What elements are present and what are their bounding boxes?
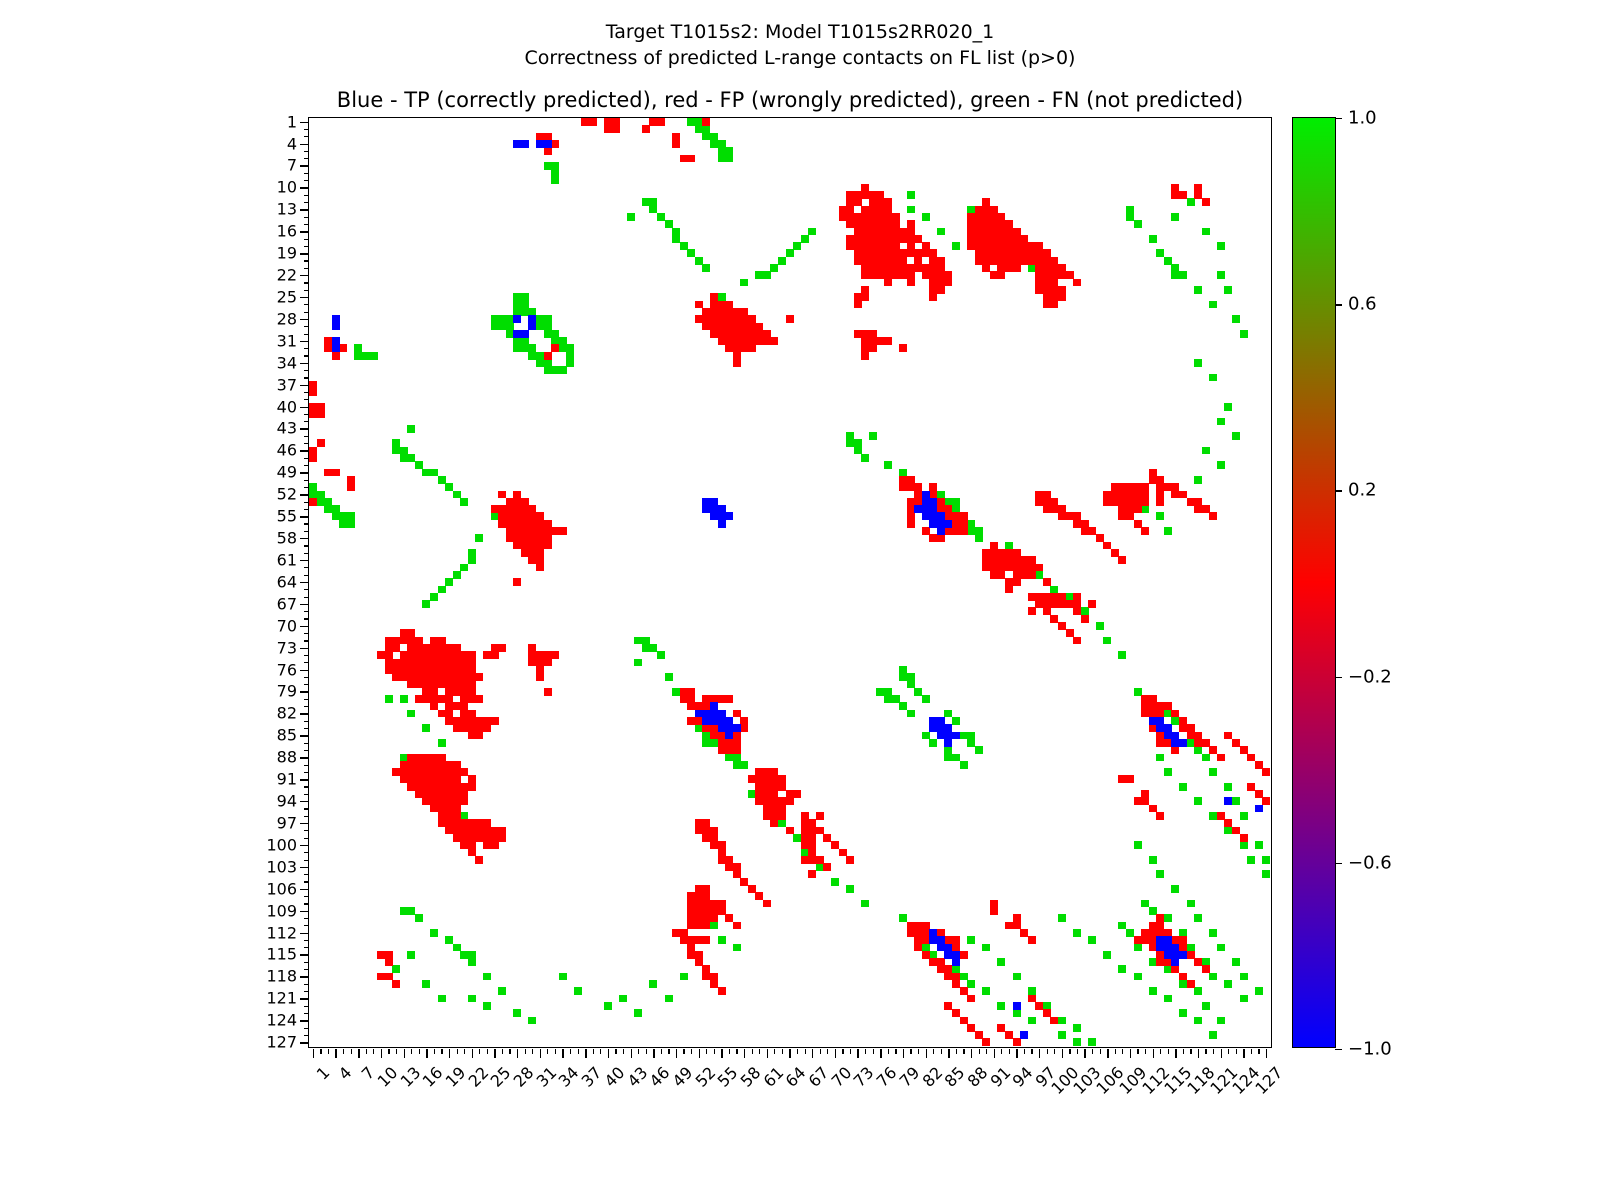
y-tick-major (300, 209, 309, 210)
x-tick-major (404, 1049, 405, 1058)
contact-cell-fp (687, 155, 695, 163)
contact-cell-fp (1187, 980, 1195, 988)
y-tick-minor (304, 962, 309, 963)
contact-cell-fp (536, 564, 544, 572)
y-axis-tick-label: 100 (266, 835, 297, 854)
x-tick-major (1039, 1049, 1040, 1058)
x-axis-tick-label: 7 (358, 1063, 379, 1084)
contact-cell-fp (498, 834, 506, 842)
contact-cell-fn (665, 995, 673, 1003)
contact-cell-fn (763, 271, 771, 279)
contact-cell-fn (1088, 936, 1096, 944)
contact-cell-fp (770, 337, 778, 345)
x-tick-major (472, 1049, 473, 1058)
contact-cell-fn (1209, 374, 1217, 382)
x-tick-minor (963, 1049, 964, 1054)
contact-cell-tp (937, 527, 945, 535)
x-tick-major (835, 1049, 836, 1058)
colorbar-tick-label: 1.0 (1348, 108, 1377, 129)
contact-cell-tp (944, 520, 952, 528)
y-axis-tick-label: 31 (277, 331, 297, 350)
contact-cell-fn (1202, 1002, 1210, 1010)
y-axis-tick-label: 46 (277, 441, 297, 460)
contact-cell-fn (1209, 768, 1217, 776)
contact-cell-fp (854, 301, 862, 309)
y-tick-minor (304, 589, 309, 590)
contact-cell-fn (952, 242, 960, 250)
y-tick-minor (304, 348, 309, 349)
y-axis-tick-label: 118 (266, 967, 297, 986)
x-tick-major (335, 1049, 336, 1058)
contact-cell-fp (309, 498, 317, 506)
x-tick-minor (1031, 1049, 1032, 1054)
contact-cell-tp (952, 732, 960, 740)
contact-cell-fn (718, 936, 726, 944)
y-axis-tick-label: 91 (277, 770, 297, 789)
y-axis-tick-label: 64 (277, 572, 297, 591)
y-tick-minor (304, 896, 309, 897)
contact-cell-fp (468, 783, 476, 791)
y-tick-major (300, 648, 309, 649)
contact-cell-fp (475, 695, 483, 703)
contact-cell-fn (1171, 213, 1179, 221)
contact-cell-fn (1224, 286, 1232, 294)
y-tick-minor (304, 414, 309, 415)
y-axis-tick-label: 103 (266, 857, 297, 876)
contact-cell-fp (907, 483, 915, 491)
contact-cell-fn (392, 965, 400, 973)
contact-cell-fp (960, 951, 968, 959)
colorbar-tick (1335, 490, 1342, 491)
contact-cell-fn (922, 695, 930, 703)
contact-cell-fn (422, 600, 430, 608)
contact-cell-fn (453, 571, 461, 579)
contact-cell-tp (922, 491, 930, 499)
contact-cell-fp (498, 644, 506, 652)
contact-cell-fp (1013, 1038, 1021, 1046)
contact-cell-fp (1217, 754, 1225, 762)
contact-cell-fn (1149, 235, 1157, 243)
contact-cell-tp (1013, 1002, 1021, 1010)
x-axis-tick-label: 127 (1251, 1063, 1286, 1098)
contact-cell-tp (952, 958, 960, 966)
x-tick-minor (956, 1049, 957, 1054)
x-tick-minor (1047, 1049, 1048, 1054)
x-tick-minor (419, 1049, 420, 1054)
contact-cell-fn (702, 264, 710, 272)
contact-cell-fp (1035, 564, 1043, 572)
contact-cell-fp (347, 483, 355, 491)
contact-cell-fn (407, 951, 415, 959)
y-axis-tick-label: 124 (266, 1011, 297, 1030)
y-tick-minor (304, 830, 309, 831)
contact-cell-fn (1134, 944, 1142, 952)
contact-cell-fp (823, 863, 831, 871)
contact-cell-fn (1103, 951, 1111, 959)
contact-cell-fn (755, 271, 763, 279)
contact-cell-fn (869, 432, 877, 440)
y-tick-major (300, 428, 309, 429)
y-tick-minor (304, 808, 309, 809)
contact-cell-fp (778, 812, 786, 820)
contact-cell-fn (445, 578, 453, 586)
contact-cell-fp (687, 695, 695, 703)
contact-cell-fn (1141, 505, 1149, 513)
x-tick-minor (434, 1049, 435, 1054)
y-tick-major (300, 779, 309, 780)
contact-cell-fp (816, 812, 824, 820)
y-tick-minor (304, 392, 309, 393)
y-tick-minor (304, 553, 309, 554)
y-tick-major (300, 713, 309, 714)
x-tick-minor (888, 1049, 889, 1054)
contact-cell-fn (559, 973, 567, 981)
contact-cell-fp (1156, 498, 1164, 506)
contact-cell-fn (778, 257, 786, 265)
contact-cell-fn (1058, 1031, 1066, 1039)
y-tick-major (300, 231, 309, 232)
contact-cell-fp (1202, 198, 1210, 206)
x-tick-major (313, 1049, 314, 1058)
contact-cell-fp (1141, 790, 1149, 798)
y-tick-major (300, 604, 309, 605)
y-tick-minor (304, 334, 309, 335)
y-tick-minor (304, 377, 309, 378)
contact-cell-fn (1134, 973, 1142, 981)
contact-cell-fn (407, 425, 415, 433)
contact-cell-fp (710, 914, 718, 922)
x-tick-minor (366, 1049, 367, 1054)
y-tick-minor (304, 969, 309, 970)
y-tick-minor (304, 545, 309, 546)
colorbar-tick (1335, 118, 1342, 119)
contact-cell-fp (544, 688, 552, 696)
contact-cell-fn (960, 761, 968, 769)
y-tick-major (300, 670, 309, 671)
x-tick-minor (979, 1049, 980, 1054)
y-tick-minor (304, 502, 309, 503)
x-tick-major (699, 1049, 700, 1058)
contact-cell-fn (1240, 995, 1248, 1003)
y-axis-tick-label: 52 (277, 485, 297, 504)
x-tick-minor (865, 1049, 866, 1054)
contact-cell-fn (422, 724, 430, 732)
contact-cell-fn (468, 556, 476, 564)
x-tick-major (585, 1049, 586, 1058)
contact-cell-fp (1028, 607, 1036, 615)
contact-cell-tp (944, 739, 952, 747)
contact-cell-fp (1081, 615, 1089, 623)
contact-cell-fn (861, 900, 869, 908)
contact-cell-fp (695, 301, 703, 309)
x-tick-minor (623, 1049, 624, 1054)
contact-cell-fn (861, 454, 869, 462)
y-tick-minor (304, 195, 309, 196)
contact-cell-fn (1224, 783, 1232, 791)
contact-cell-tp (544, 140, 552, 148)
contact-cell-fn (1209, 929, 1217, 937)
colorbar-tick-label: −0.6 (1348, 852, 1392, 873)
contact-cell-fn (1164, 914, 1172, 922)
y-tick-major (300, 954, 309, 955)
suptitle-line-1: Target T1015s2: Model T1015s2RR020_1 (606, 21, 995, 43)
x-tick-minor (1160, 1049, 1161, 1054)
y-tick-minor (304, 421, 309, 422)
contact-cell-fp (869, 344, 877, 352)
x-tick-minor (918, 1049, 919, 1054)
contact-cell-fp (1134, 505, 1142, 513)
contact-cell-fp (672, 140, 680, 148)
contact-cell-fn (725, 155, 733, 163)
contact-cell-fp (702, 922, 710, 930)
contact-cell-fp (944, 279, 952, 287)
contact-cell-fn (657, 651, 665, 659)
contact-cell-fp (642, 125, 650, 133)
contact-cell-fn (1209, 1031, 1217, 1039)
contact-cell-fp (733, 922, 741, 930)
contact-cell-tp (513, 330, 521, 338)
y-tick-major (300, 363, 309, 364)
y-tick-major (300, 801, 309, 802)
colorbar: −1.0−0.6−0.20.20.61.0 (1292, 117, 1336, 1048)
contact-cell-fp (937, 286, 945, 294)
contact-cell-fn (952, 717, 960, 725)
contact-cell-fp (884, 337, 892, 345)
contact-cell-fn (1058, 1017, 1066, 1025)
x-tick-minor (729, 1049, 730, 1054)
x-tick-minor (706, 1049, 707, 1054)
contact-cell-fp (1126, 775, 1134, 783)
contact-cell-fn (1179, 271, 1187, 279)
contact-cell-fp (460, 797, 468, 805)
y-tick-minor (304, 246, 309, 247)
contact-cell-fp (1005, 922, 1013, 930)
contact-cell-fp (733, 739, 741, 747)
x-tick-minor (1183, 1049, 1184, 1054)
y-axis-tick-label: 37 (277, 375, 297, 394)
contact-cell-fn (559, 366, 567, 374)
y-tick-major (300, 122, 309, 123)
x-axis-tick-label: 1 (313, 1063, 334, 1084)
contact-cell-fn (498, 987, 506, 995)
contact-cell-fp (990, 907, 998, 915)
x-tick-major (562, 1049, 563, 1058)
contact-cell-fn (634, 659, 642, 667)
contact-cell-fp (559, 527, 567, 535)
x-tick-minor (600, 1049, 601, 1054)
y-tick-minor (304, 1028, 309, 1029)
x-tick-minor (1168, 1049, 1169, 1054)
contact-cell-tp (718, 520, 726, 528)
x-tick-major (540, 1049, 541, 1058)
x-tick-minor (1228, 1049, 1229, 1054)
x-tick-major (1175, 1049, 1176, 1058)
y-tick-minor (304, 684, 309, 685)
x-tick-minor (910, 1049, 911, 1054)
y-tick-minor (304, 136, 309, 137)
contact-cell-fn (1156, 512, 1164, 520)
y-tick-minor (304, 326, 309, 327)
y-tick-minor (304, 618, 309, 619)
y-tick-minor (304, 655, 309, 656)
contact-cell-fn (1058, 914, 1066, 922)
contact-cell-fn (1255, 841, 1263, 849)
contact-cell-fp (1073, 279, 1081, 287)
contact-cell-tp (1164, 944, 1172, 952)
y-tick-minor (304, 370, 309, 371)
x-tick-minor (570, 1049, 571, 1054)
contact-cell-fp (1028, 936, 1036, 944)
colorbar-tick (1335, 304, 1342, 305)
x-tick-minor (373, 1049, 374, 1054)
x-tick-minor (396, 1049, 397, 1054)
x-tick-major (449, 1049, 450, 1058)
y-tick-major (300, 560, 309, 561)
contact-cell-fp (513, 578, 521, 586)
x-tick-minor (487, 1049, 488, 1054)
contact-cell-fn (460, 498, 468, 506)
contact-cell-tp (725, 512, 733, 520)
x-tick-major (767, 1049, 768, 1058)
y-tick-minor (304, 816, 309, 817)
y-tick-major (300, 976, 309, 977)
contact-cell-fn (907, 710, 915, 718)
y-tick-minor (304, 567, 309, 568)
x-tick-major (426, 1049, 427, 1058)
x-tick-major (358, 1049, 359, 1058)
contact-cell-fp (1013, 264, 1021, 272)
contact-cell-fp (907, 279, 915, 287)
contact-cell-fn (483, 1002, 491, 1010)
x-tick-minor (457, 1049, 458, 1054)
x-tick-minor (1145, 1049, 1146, 1054)
contact-cell-fn (370, 352, 378, 360)
contact-cell-fn (1209, 301, 1217, 309)
x-tick-minor (873, 1049, 874, 1054)
x-tick-minor (805, 1049, 806, 1054)
contact-cell-tp (695, 710, 703, 718)
contact-cell-fn (1194, 797, 1202, 805)
x-tick-major (926, 1049, 927, 1058)
x-tick-minor (547, 1049, 548, 1054)
contact-cell-fn (468, 549, 476, 557)
x-tick-minor (328, 1049, 329, 1054)
contact-cell-fp (937, 534, 945, 542)
x-tick-major (1243, 1049, 1244, 1058)
y-axis-tick-label: 97 (277, 813, 297, 832)
contact-cell-tp (521, 140, 529, 148)
y-tick-minor (304, 260, 309, 261)
x-tick-minor (1077, 1049, 1078, 1054)
contact-cell-fn (438, 739, 446, 747)
contact-cell-fn (513, 1009, 521, 1017)
contact-cell-fn (1028, 1017, 1036, 1025)
contact-cell-fn (634, 1009, 642, 1017)
axes-title-legend: Blue - TP (correctly predicted), red - F… (308, 88, 1272, 112)
contact-cell-fn (460, 564, 468, 572)
y-axis-tick-label: 16 (277, 222, 297, 241)
x-tick-minor (691, 1049, 692, 1054)
contact-cell-fp (846, 856, 854, 864)
y-tick-minor (304, 721, 309, 722)
y-tick-major (300, 297, 309, 298)
contact-cell-fn (1096, 622, 1104, 630)
contact-cell-fp (1088, 600, 1096, 608)
y-tick-minor (304, 202, 309, 203)
contact-cell-fn (1171, 885, 1179, 893)
y-tick-minor (304, 458, 309, 459)
y-axis-tick-label: 49 (277, 463, 297, 482)
x-tick-minor (1100, 1049, 1101, 1054)
contact-cell-fp (1202, 965, 1210, 973)
y-tick-minor (304, 984, 309, 985)
x-tick-minor (441, 1049, 442, 1054)
colorbar-gradient (1293, 118, 1335, 1047)
contact-cell-fp (952, 527, 960, 535)
contact-cell-fn (929, 739, 937, 747)
x-tick-minor (1213, 1049, 1214, 1054)
y-axis-tick-label: 1 (287, 112, 297, 131)
contact-cell-fp (733, 746, 741, 754)
x-tick-minor (593, 1049, 594, 1054)
contact-cell-fp (786, 797, 794, 805)
x-tick-minor (411, 1049, 412, 1054)
x-tick-minor (850, 1049, 851, 1054)
contact-cell-fn (1118, 965, 1126, 973)
contact-cell-fp (861, 293, 869, 301)
y-tick-minor (304, 918, 309, 919)
contact-cell-fn (975, 746, 983, 754)
contact-cell-fp (385, 958, 393, 966)
contact-cell-fp (786, 827, 794, 835)
x-tick-major (676, 1049, 677, 1058)
colorbar-tick (1335, 863, 1342, 864)
contact-cell-fp (475, 856, 483, 864)
y-tick-minor (304, 487, 309, 488)
contact-cell-tp (513, 315, 521, 323)
y-tick-minor (304, 794, 309, 795)
x-tick-major (1062, 1049, 1063, 1058)
contact-cell-fp (392, 980, 400, 988)
contact-cell-fp (551, 651, 559, 659)
contact-cell-fn (566, 359, 574, 367)
x-tick-minor (502, 1049, 503, 1054)
contact-cell-fn (937, 228, 945, 236)
y-tick-major (300, 319, 309, 320)
contact-cell-fn (1013, 1009, 1021, 1017)
contact-cell-fn (808, 228, 816, 236)
contact-cell-fp (1058, 293, 1066, 301)
contact-cell-fp (475, 673, 483, 681)
contact-cell-fn (907, 191, 915, 199)
x-tick-minor (479, 1049, 480, 1054)
contact-cell-fp (483, 724, 491, 732)
contact-cell-fp (733, 359, 741, 367)
x-tick-minor (1069, 1049, 1070, 1054)
contact-map-plot[interactable]: 1144771010131316161919222225252828313134… (308, 117, 1272, 1048)
contact-cell-fp (498, 491, 506, 499)
x-tick-major (381, 1049, 382, 1058)
contact-cell-fp (718, 987, 726, 995)
contact-cell-fp (475, 732, 483, 740)
y-axis-tick-label: 85 (277, 726, 297, 745)
contact-cell-fn (1149, 856, 1157, 864)
contact-cell-fn (1103, 637, 1111, 645)
y-axis-tick-label: 109 (266, 901, 297, 920)
y-tick-minor (304, 509, 309, 510)
contact-cell-fn (430, 929, 438, 937)
y-tick-major (300, 494, 309, 495)
